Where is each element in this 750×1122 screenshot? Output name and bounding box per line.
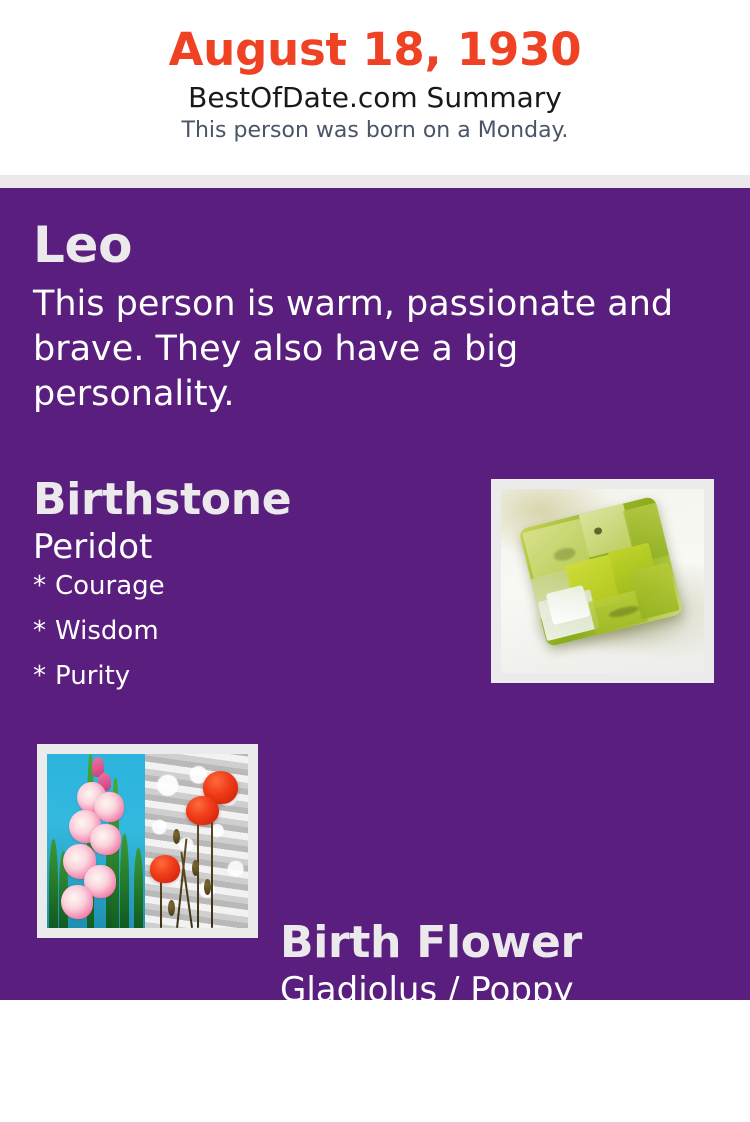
birthstone-trait-list: *Courage *Wisdom *Purity	[33, 565, 473, 708]
header-divider	[0, 175, 750, 188]
poppy-seed-pod	[204, 879, 211, 895]
trait-label: Courage	[55, 571, 165, 601]
zodiac-section: Leo This person is warm, passionate and …	[33, 220, 693, 416]
list-item: *Wisdom	[33, 618, 473, 663]
summary-card: August 18, 1930 BestOfDate.com Summary T…	[0, 0, 750, 1000]
trait-label: Purity	[55, 661, 130, 691]
trait-label: Strength	[302, 1024, 414, 1054]
zodiac-sign-name: Leo	[33, 220, 693, 270]
gladiolus-bloom	[90, 824, 121, 855]
card-header: August 18, 1930 BestOfDate.com Summary T…	[0, 0, 750, 175]
bullet-star-icon: *	[33, 616, 46, 646]
bullet-star-icon: *	[280, 1072, 293, 1102]
gladiolus-and-poppy-photo	[47, 754, 248, 928]
birth-flower-trait-list: *Strength *Imagination	[280, 1008, 720, 1122]
birth-flower-name: Gladiolus / Poppy	[280, 965, 720, 1008]
birth-flower-heading: Birth Flower	[280, 921, 720, 965]
poppy-photo-half	[145, 754, 248, 928]
list-item: *Purity	[33, 663, 473, 708]
birthstone-heading: Birthstone	[33, 478, 473, 522]
grass-blade	[134, 848, 143, 928]
trait-label: Wisdom	[55, 616, 159, 646]
poppy-seed-pod	[173, 829, 180, 845]
list-item: *Imagination	[280, 1074, 720, 1122]
zodiac-description: This person is warm, passionate and brav…	[33, 270, 681, 416]
poppy-seed-pod	[168, 900, 175, 916]
birthstone-image-frame	[491, 479, 714, 683]
poppy-seed-pod	[192, 860, 199, 876]
list-item: *Courage	[33, 573, 473, 618]
list-item: *Strength	[280, 1026, 720, 1074]
birthstone-name: Peridot	[33, 522, 473, 565]
page-title: August 18, 1930	[0, 0, 750, 75]
bullet-star-icon: *	[280, 1024, 293, 1054]
birthstone-section: Birthstone Peridot *Courage *Wisdom *Pur…	[33, 478, 473, 708]
gladiolus-photo-half	[47, 754, 145, 928]
birth-flower-image	[47, 754, 248, 928]
peridot-gemstone-photo	[501, 489, 704, 673]
birth-flower-section: Birth Flower Gladiolus / Poppy *Strength…	[280, 921, 720, 1122]
site-subtitle: BestOfDate.com Summary	[0, 75, 750, 113]
bullet-star-icon: *	[33, 661, 46, 691]
gladiolus-bloom	[61, 885, 93, 920]
birth-flower-image-frame	[37, 744, 258, 938]
trait-label: Imagination	[302, 1072, 457, 1102]
poppy-bloom	[150, 855, 181, 883]
birth-day-note: This person was born on a Monday.	[0, 113, 750, 144]
bullet-star-icon: *	[33, 571, 46, 601]
grass-blade	[49, 839, 58, 928]
grass-blade	[120, 834, 129, 928]
birthstone-image	[501, 489, 704, 673]
poppy-bloom	[186, 796, 219, 826]
